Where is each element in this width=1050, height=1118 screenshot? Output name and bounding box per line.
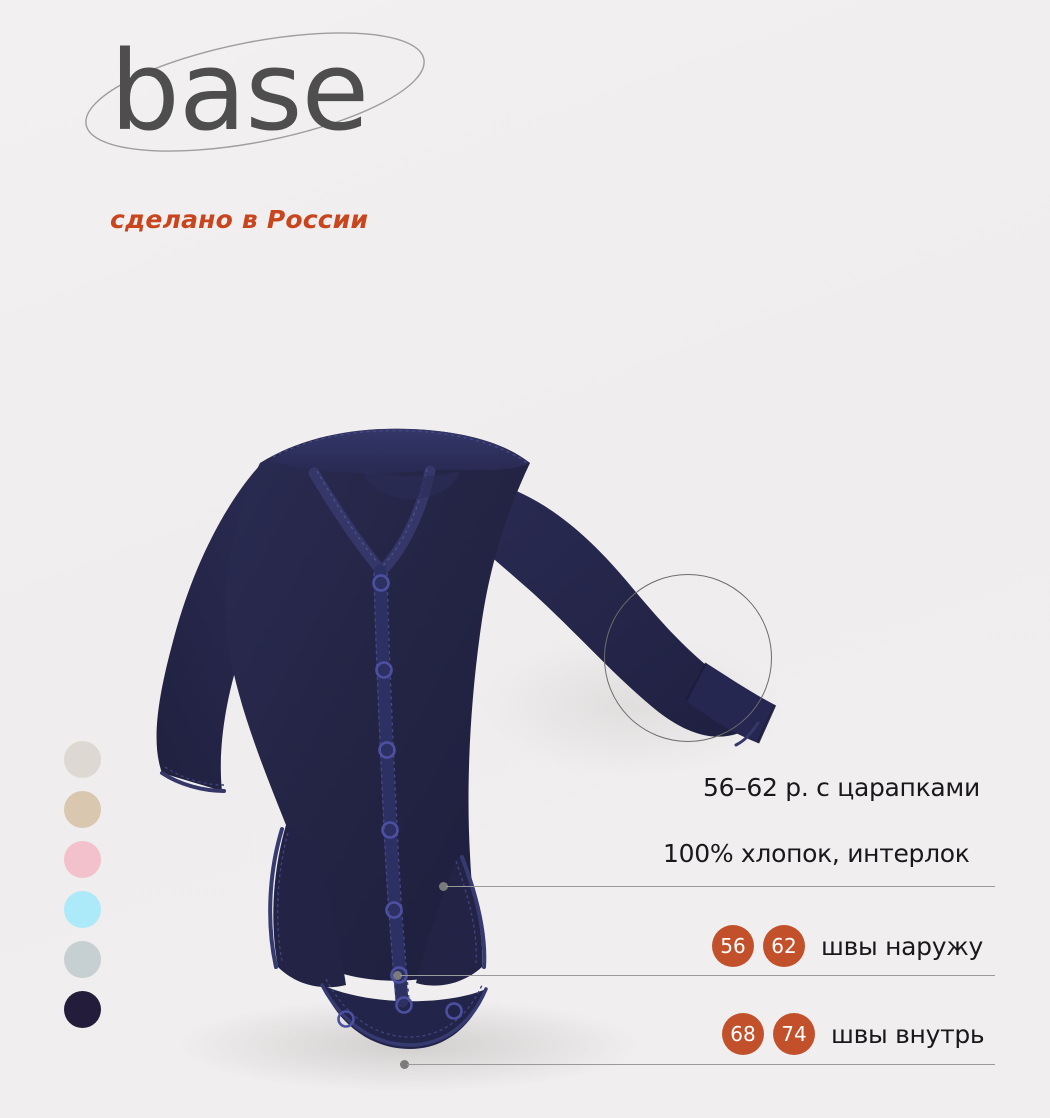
size-badge: 56	[712, 925, 754, 967]
color-swatch-list[interactable]	[64, 741, 101, 1028]
color-swatch[interactable]	[64, 791, 101, 828]
seam-row-outside: 56 62 швы наружу	[712, 925, 983, 967]
size-badge: 62	[763, 925, 805, 967]
info-line-sizes: 56–62 р. с царапками	[703, 773, 980, 802]
cuff-callout-circle	[604, 574, 772, 742]
leader-line-seam-inside	[407, 1064, 995, 1065]
seam-label: швы наружу	[821, 932, 983, 961]
size-badge: 68	[722, 1013, 764, 1055]
leader-line-material	[446, 886, 995, 887]
color-swatch[interactable]	[64, 741, 101, 778]
brand-wordmark: base	[110, 36, 368, 146]
product-card: base сделано в России	[0, 0, 1050, 1118]
bodysuit-body	[225, 429, 530, 1049]
brand-tagline: сделано в России	[110, 205, 368, 234]
color-swatch[interactable]	[64, 841, 101, 878]
seam-row-inside: 68 74 швы внутрь	[722, 1013, 984, 1055]
size-badge: 74	[773, 1013, 815, 1055]
color-swatch[interactable]	[64, 991, 101, 1028]
leader-line-seam-outside	[400, 975, 995, 976]
color-swatch[interactable]	[64, 891, 101, 928]
info-line-material: 100% хлопок, интерлок	[663, 839, 970, 868]
color-swatch[interactable]	[64, 941, 101, 978]
brand-block: base сделано в России	[0, 0, 520, 260]
product-image-bodysuit	[110, 405, 810, 1105]
seam-label: швы внутрь	[831, 1020, 984, 1049]
